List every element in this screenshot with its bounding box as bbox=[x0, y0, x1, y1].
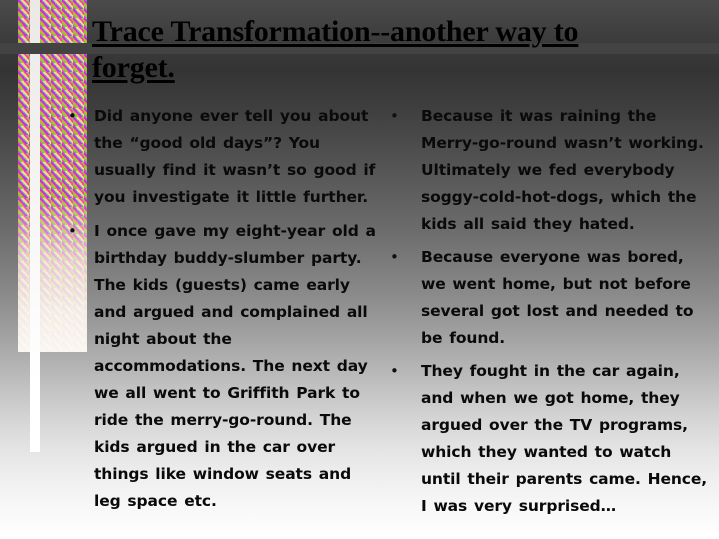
list-item: • I once gave my eight-year old a birthd… bbox=[66, 218, 381, 515]
list-item: • Because everyone was bored, we went ho… bbox=[388, 244, 713, 352]
title-placeholder[interactable]: Trace Transformation--another way to for… bbox=[92, 14, 652, 86]
page-title: Trace Transformation--another way to for… bbox=[92, 14, 652, 86]
list-item: • Did anyone ever tell you about the “go… bbox=[66, 103, 381, 211]
body-column-right[interactable]: • Because it was raining the Merry-go-ro… bbox=[388, 103, 713, 526]
bullet-text: They fought in the car again, and when w… bbox=[421, 358, 713, 520]
list-item: • Because it was raining the Merry-go-ro… bbox=[388, 103, 713, 238]
bullet-text: Because everyone was bored, we went home… bbox=[421, 244, 713, 352]
bullet-text: Because it was raining the Merry-go-roun… bbox=[421, 103, 713, 238]
bullet-text: Did anyone ever tell you about the “good… bbox=[94, 103, 381, 211]
bullet-icon: • bbox=[388, 244, 421, 271]
bullet-icon: • bbox=[388, 358, 421, 385]
list-item: • They fought in the car again, and when… bbox=[388, 358, 713, 520]
bullet-text: I once gave my eight-year old a birthday… bbox=[94, 218, 381, 515]
bullet-icon: • bbox=[66, 103, 94, 130]
body-column-left[interactable]: • Did anyone ever tell you about the “go… bbox=[66, 103, 381, 522]
white-vertical-bar bbox=[30, 0, 40, 452]
presentation-slide: Trace Transformation--another way to for… bbox=[0, 0, 719, 539]
bullet-icon: • bbox=[66, 218, 94, 245]
bullet-icon: • bbox=[388, 103, 421, 130]
